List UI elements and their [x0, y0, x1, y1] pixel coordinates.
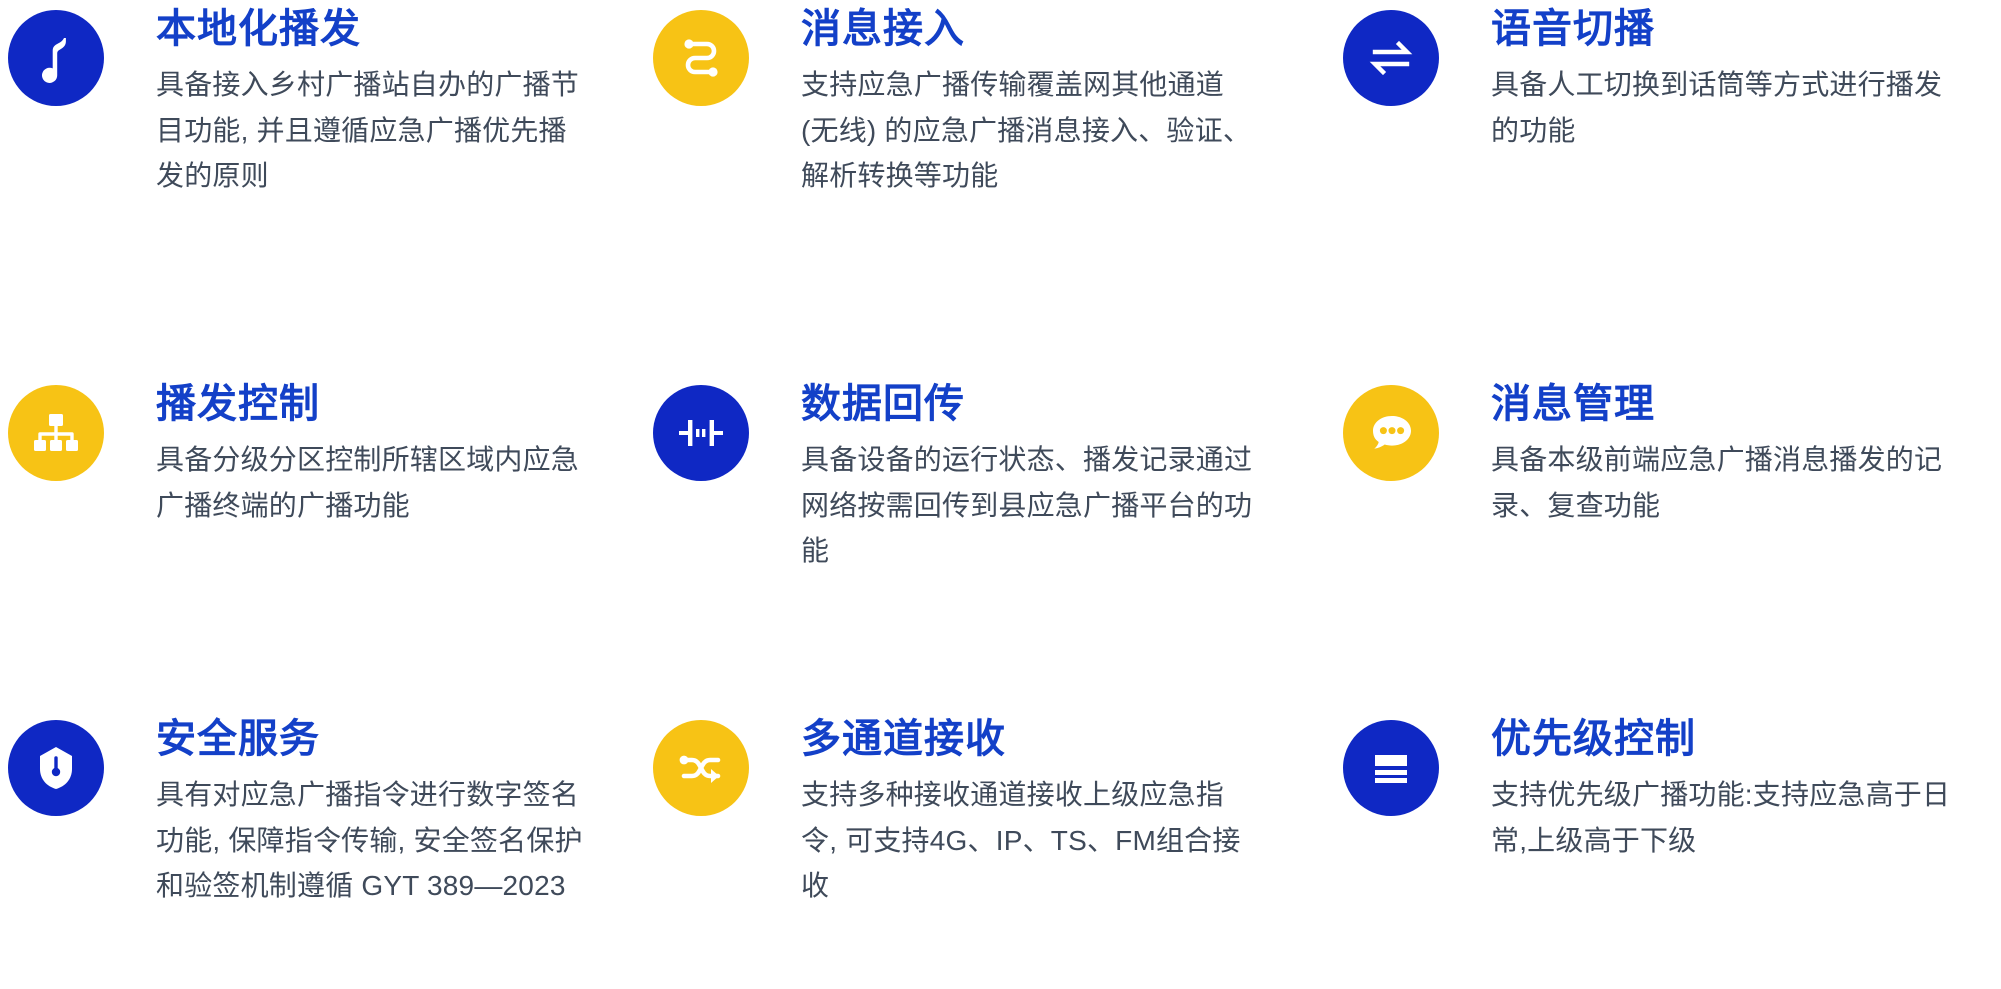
feature-card-multichannel-receive[interactable]: 多通道接收 支持多种接收通道接收上级应急指令, 可支持4G、IP、TS、FM组合…: [640, 718, 1330, 989]
feature-description: 具备设备的运行状态、播发记录通过网络按需回传到县应急广播平台的功能: [801, 437, 1256, 573]
signal-transmit-icon: [653, 385, 749, 481]
features-grid: 本地化播发 具备接入乡村广播站自办的广播节目功能, 并且遵循应急广播优先播发的原…: [0, 0, 2001, 981]
feature-title: 多通道接收: [801, 718, 1330, 760]
shuffle-arrows-icon: [653, 720, 749, 816]
feature-card-voice-switch[interactable]: 语音切播 具备人工切换到话筒等方式进行播发的功能: [1330, 8, 2001, 383]
feature-title: 安全服务: [156, 718, 640, 760]
feature-card-data-return[interactable]: 数据回传 具备设备的运行状态、播发记录通过网络按需回传到县应急广播平台的功能: [640, 383, 1330, 718]
hierarchy-icon: [8, 385, 104, 481]
feature-title: 语音切播: [1491, 8, 2001, 50]
chat-bubble-icon: [1343, 385, 1439, 481]
feature-card-localized-broadcast[interactable]: 本地化播发 具备接入乡村广播站自办的广播节目功能, 并且遵循应急广播优先播发的原…: [0, 8, 640, 383]
feature-card-message-management[interactable]: 消息管理 具备本级前端应急广播消息播发的记录、复查功能: [1330, 383, 2001, 718]
feature-title: 优先级控制: [1491, 718, 2001, 760]
feature-card-message-access[interactable]: 消息接入 支持应急广播传输覆盖网其他通道(无线) 的应急广播消息接入、验证、解析…: [640, 8, 1330, 383]
feature-title: 消息管理: [1491, 383, 2001, 425]
feature-description: 具备本级前端应急广播消息播发的记录、复查功能: [1491, 437, 1961, 528]
feature-text: 语音切播 具备人工切换到话筒等方式进行播发的功能: [1439, 8, 2001, 153]
feature-description: 具备接入乡村广播站自办的广播节目功能, 并且遵循应急广播优先播发的原则: [156, 62, 586, 198]
feature-title: 播发控制: [156, 383, 640, 425]
feature-text: 消息管理 具备本级前端应急广播消息播发的记录、复查功能: [1439, 383, 2001, 528]
feature-card-security-service[interactable]: 安全服务 具有对应急广播指令进行数字签名功能, 保障指令传输, 安全签名保护和验…: [0, 718, 640, 989]
music-note-icon: [8, 10, 104, 106]
feature-card-broadcast-control[interactable]: 播发控制 具备分级分区控制所辖区域内应急广播终端的广播功能: [0, 383, 640, 718]
feature-description: 具备人工切换到话筒等方式进行播发的功能: [1491, 62, 1961, 153]
feature-text: 安全服务 具有对应急广播指令进行数字签名功能, 保障指令传输, 安全签名保护和验…: [104, 718, 640, 908]
feature-text: 消息接入 支持应急广播传输覆盖网其他通道(无线) 的应急广播消息接入、验证、解析…: [749, 8, 1330, 198]
feature-description: 支持应急广播传输覆盖网其他通道(无线) 的应急广播消息接入、验证、解析转换等功能: [801, 62, 1256, 198]
feature-text: 播发控制 具备分级分区控制所辖区域内应急广播终端的广播功能: [104, 383, 640, 528]
feature-description: 支持多种接收通道接收上级应急指令, 可支持4G、IP、TS、FM组合接收: [801, 772, 1256, 908]
feature-text: 多通道接收 支持多种接收通道接收上级应急指令, 可支持4G、IP、TS、FM组合…: [749, 718, 1330, 908]
feature-text: 优先级控制 支持优先级广播功能:支持应急高于日常,上级高于下级: [1439, 718, 2001, 863]
feature-title: 数据回传: [801, 383, 1330, 425]
feature-text: 本地化播发 具备接入乡村广播站自办的广播节目功能, 并且遵循应急广播优先播发的原…: [104, 8, 640, 198]
route-node-icon: [653, 10, 749, 106]
feature-description: 具有对应急广播指令进行数字签名功能, 保障指令传输, 安全签名保护和验签机制遵循…: [156, 772, 586, 908]
feature-description: 具备分级分区控制所辖区域内应急广播终端的广播功能: [156, 437, 586, 528]
feature-description: 支持优先级广播功能:支持应急高于日常,上级高于下级: [1491, 772, 1961, 863]
feature-title: 消息接入: [801, 8, 1330, 50]
exchange-arrows-icon: [1343, 10, 1439, 106]
feature-card-priority-control[interactable]: 优先级控制 支持优先级广播功能:支持应急高于日常,上级高于下级: [1330, 718, 2001, 989]
stacked-bars-icon: [1343, 720, 1439, 816]
shield-lock-icon: [8, 720, 104, 816]
feature-title: 本地化播发: [156, 8, 640, 50]
feature-text: 数据回传 具备设备的运行状态、播发记录通过网络按需回传到县应急广播平台的功能: [749, 383, 1330, 573]
